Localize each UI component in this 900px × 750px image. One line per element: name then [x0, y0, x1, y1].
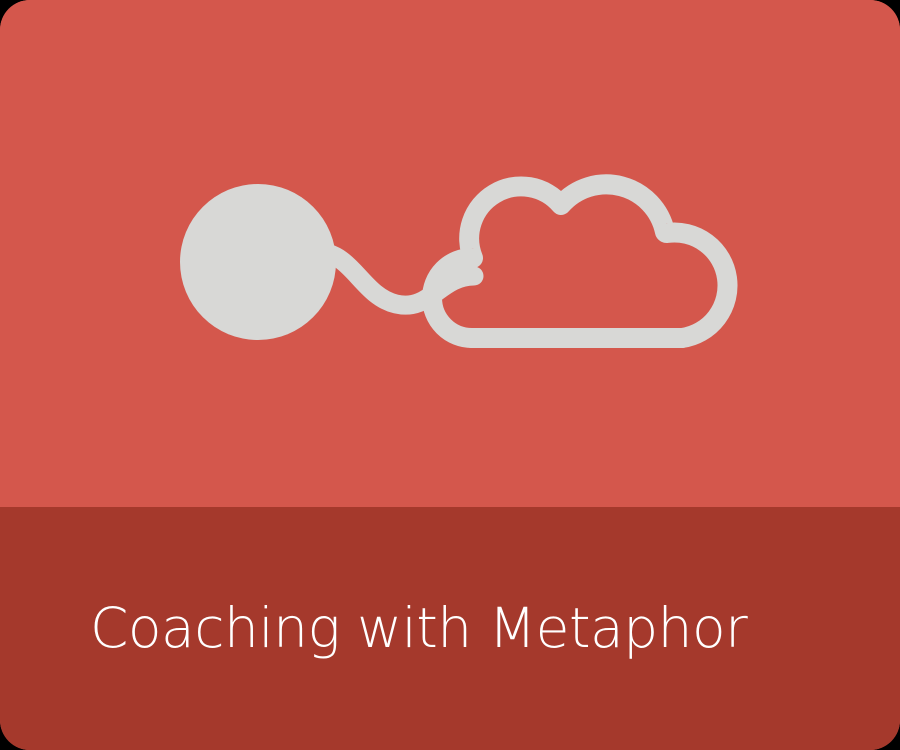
card-caption-band: Coaching with Metaphor: [0, 507, 900, 750]
course-card[interactable]: Coaching with Metaphor: [0, 0, 900, 750]
cloud-outline: [432, 184, 727, 338]
thought-bubble-cloud-icon: [0, 0, 900, 507]
circle-node: [180, 184, 336, 340]
card-title: Coaching with Metaphor: [90, 507, 820, 750]
card-artwork-band: [0, 0, 900, 507]
